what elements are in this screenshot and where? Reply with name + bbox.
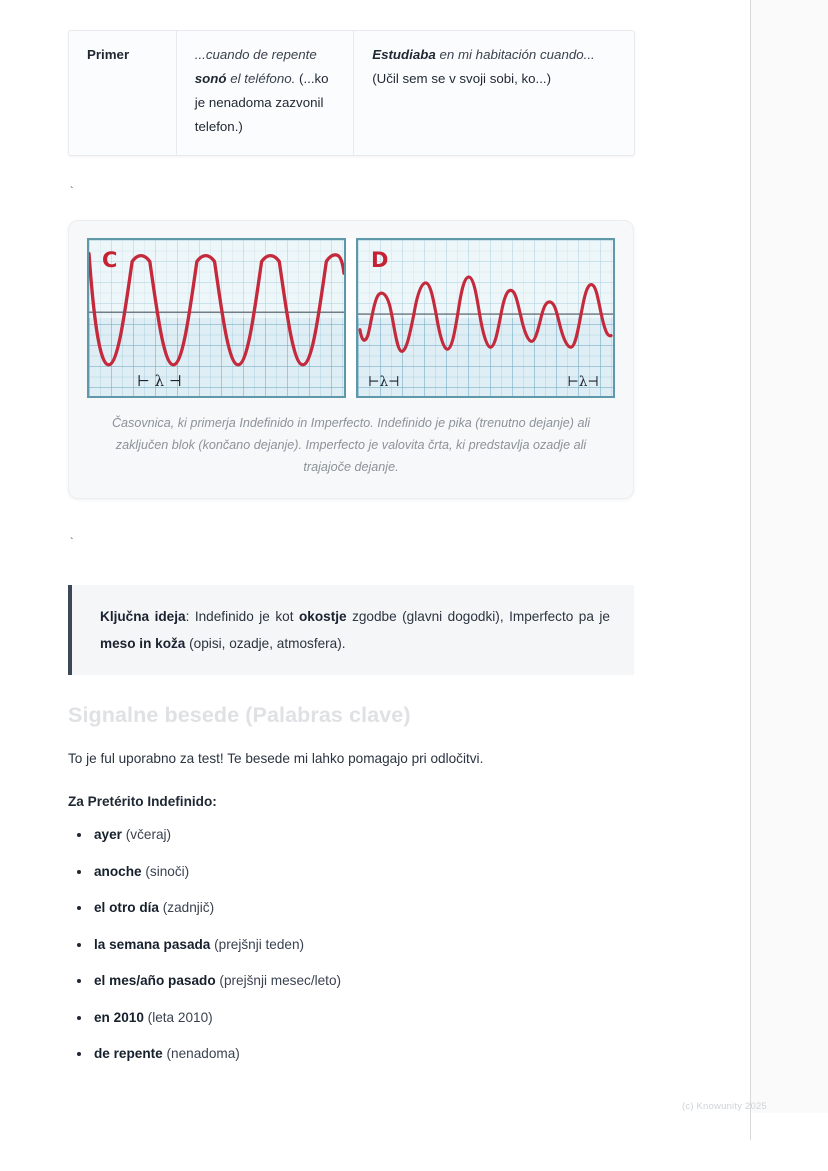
indefinido-lead: ...cuando de repente [195,47,317,62]
wave-panel-letter-d: D [371,248,389,272]
figure-card: C ⊢ λ ⊣ D ⊢λ⊣ ⊢λ⊣ Časovnica, [68,220,634,499]
figure-caption: Časovnica, ki primerja Indefinido in Imp… [91,412,611,478]
signal-word-term: anoche [94,864,142,879]
wave-panel-letter-c: C [102,248,118,272]
table-cell-indefinido: ...cuando de repente sonó el teléfono. (… [177,31,354,155]
list-item: de repente (nenadoma) [68,1044,640,1064]
signal-word-translation: (prejšnji teden) [214,937,304,952]
list-item: el otro día (zadnjič) [68,898,640,918]
signal-word-term: ayer [94,827,122,842]
list-item: la semana pasada (prejšnji teden) [68,935,640,955]
key-idea-lead: Ključna ideja [100,609,186,624]
key-idea-bold-2: meso in koža [100,636,185,651]
wave-panel-d: D ⊢λ⊣ ⊢λ⊣ [356,238,615,398]
section-heading: Signalne besede (Palabras clave) [68,703,640,728]
imperfecto-translation: (Učil sem se v svoji sobi, ko...) [372,71,551,86]
key-idea-text: Ključna ideja: Indefinido je kot okostje… [100,603,610,657]
key-idea-callout: Ključna ideja: Indefinido je kot okostje… [68,585,634,675]
signal-word-translation: (leta 2010) [148,1010,213,1025]
wave-panel-c: C ⊢ λ ⊣ [87,238,346,398]
key-idea-part3: (opisi, ozadje, atmosfera). [185,636,345,651]
table-row-label: Primer [69,31,177,155]
signal-word-term: en 2010 [94,1010,144,1025]
signal-word-term: la semana pasada [94,937,210,952]
list-item: anoche (sinoči) [68,862,640,882]
signal-word-term: el mes/año pasado [94,973,216,988]
comparison-table: Primer ...cuando de repente sonó el telé… [68,30,635,156]
wave-curve-d [358,240,613,396]
list-item: ayer (včeraj) [68,825,640,845]
signal-word-translation: (včeraj) [126,827,171,842]
signal-words-sublabel: Za Pretérito Indefinido: [68,794,640,809]
wavelength-label-d-left: ⊢λ⊣ [368,374,400,390]
table-row: Primer ...cuando de repente sonó el telé… [69,31,634,155]
stray-backtick-first: ` [68,186,640,198]
signal-words-list: ayer (včeraj) anoche (sinoči) el otro dí… [68,825,640,1064]
section-intro-text: To je ful uporabno za test! Te besede mi… [68,748,640,770]
table-cell-imperfecto: Estudiaba en mi habitación cuando... (Uč… [354,31,634,155]
wave-curve-c [89,240,344,396]
stray-backtick-second: ` [68,537,640,549]
wave-figure: C ⊢ λ ⊣ D ⊢λ⊣ ⊢λ⊣ [87,238,615,398]
wavelength-label-c: ⊢ λ ⊣ [137,372,182,390]
wavelength-label-d-right: ⊢λ⊣ [567,374,599,390]
copyright-watermark: (c) Knowunity 2025 [682,1101,767,1112]
signal-word-translation: (zadnjič) [163,900,214,915]
list-item: el mes/año pasado (prejšnji mesec/leto) [68,971,640,991]
document-content: Primer ...cuando de repente sonó el telé… [68,0,640,1081]
signal-word-translation: (nenadoma) [167,1046,240,1061]
list-item: en 2010 (leta 2010) [68,1008,640,1028]
signal-word-term: el otro día [94,900,159,915]
signal-word-translation: (prejšnji mesec/leto) [219,973,341,988]
key-idea-bold-1: okostje [299,609,347,624]
key-idea-part1: : Indefinido je kot [186,609,299,624]
imperfecto-tail: en mi habitación cuando... [436,47,595,62]
key-idea-part2: zgodbe (glavni dogodki), Imperfecto pa j… [347,609,610,624]
signal-word-translation: (sinoči) [145,864,189,879]
indefinido-bold: sonó [195,71,227,86]
indefinido-tail: el teléfono. [227,71,296,86]
signal-word-term: de repente [94,1046,163,1061]
right-side-rail [750,0,828,1140]
right-rail-fade [751,1113,828,1171]
imperfecto-bold: Estudiaba [372,47,436,62]
document-page: Primer ...cuando de repente sonó el telé… [0,0,828,1171]
